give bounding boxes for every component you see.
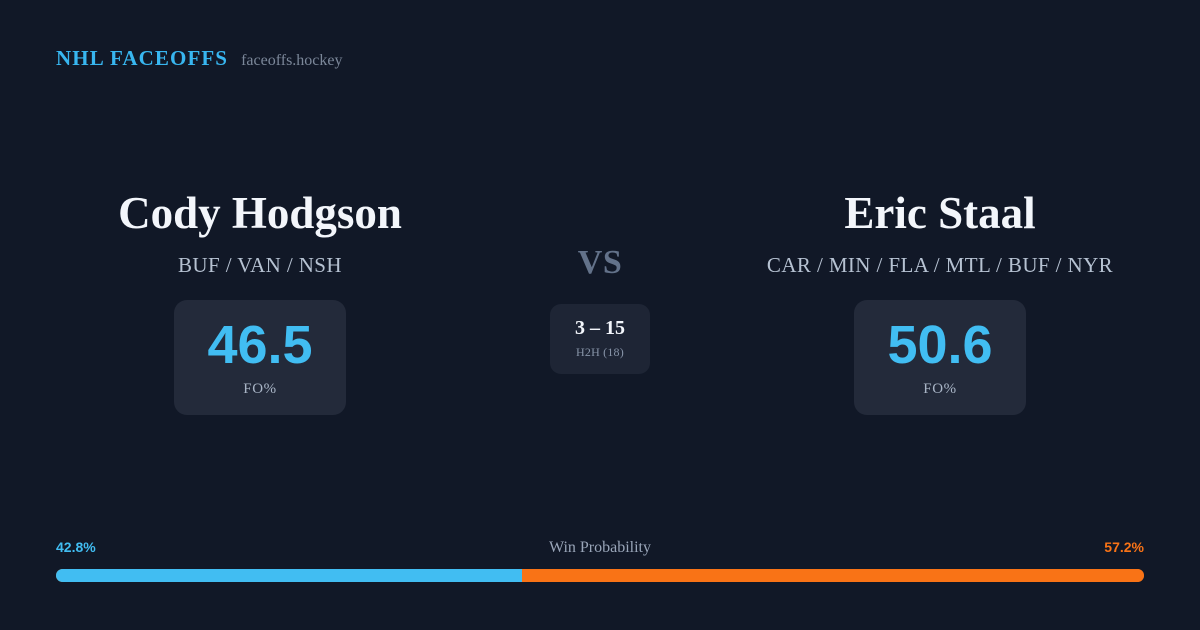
matchup-row: Cody Hodgson BUF / VAN / NSH 46.5 FO% VS… — [0, 190, 1200, 415]
player-left-stat-card: 46.5 FO% — [174, 300, 346, 415]
versus-column: VS 3 – 15 H2H (18) — [500, 190, 700, 374]
win-probability-right-value: 57.2% — [1104, 539, 1144, 555]
player-right-stat-card: 50.6 FO% — [854, 300, 1026, 415]
player-right-faceoff-pct-label: FO% — [923, 381, 956, 398]
player-right-name: Eric Staal — [844, 190, 1035, 237]
site-domain-label: faceoffs.hockey — [241, 52, 342, 70]
page-header: NHL FACEOFFS faceoffs.hockey — [56, 46, 343, 71]
player-left-faceoff-pct: 46.5 — [207, 318, 312, 372]
player-left: Cody Hodgson BUF / VAN / NSH 46.5 FO% — [20, 190, 500, 415]
head-to-head-score: 3 – 15 — [575, 318, 625, 338]
win-probability-bar-left-segment — [56, 569, 522, 582]
win-probability-bar — [56, 569, 1144, 582]
brand-title: NHL FACEOFFS — [56, 46, 228, 71]
player-left-teams: BUF / VAN / NSH — [178, 253, 342, 278]
win-probability-labels: 42.8% Win Probability 57.2% — [56, 539, 1144, 559]
head-to-head-card: 3 – 15 H2H (18) — [550, 304, 650, 374]
player-left-faceoff-pct-label: FO% — [243, 381, 276, 398]
faceoff-comparison-card: NHL FACEOFFS faceoffs.hockey Cody Hodgso… — [0, 0, 1200, 630]
win-probability-section: 42.8% Win Probability 57.2% — [56, 539, 1144, 582]
player-right-teams: CAR / MIN / FLA / MTL / BUF / NYR — [767, 253, 1113, 278]
player-right-faceoff-pct: 50.6 — [887, 318, 992, 372]
player-left-name: Cody Hodgson — [118, 190, 402, 237]
versus-label: VS — [578, 246, 622, 280]
win-probability-title: Win Probability — [56, 539, 1144, 557]
player-right: Eric Staal CAR / MIN / FLA / MTL / BUF /… — [700, 190, 1180, 415]
win-probability-bar-right-segment — [522, 569, 1144, 582]
head-to-head-label: H2H (18) — [576, 345, 624, 360]
